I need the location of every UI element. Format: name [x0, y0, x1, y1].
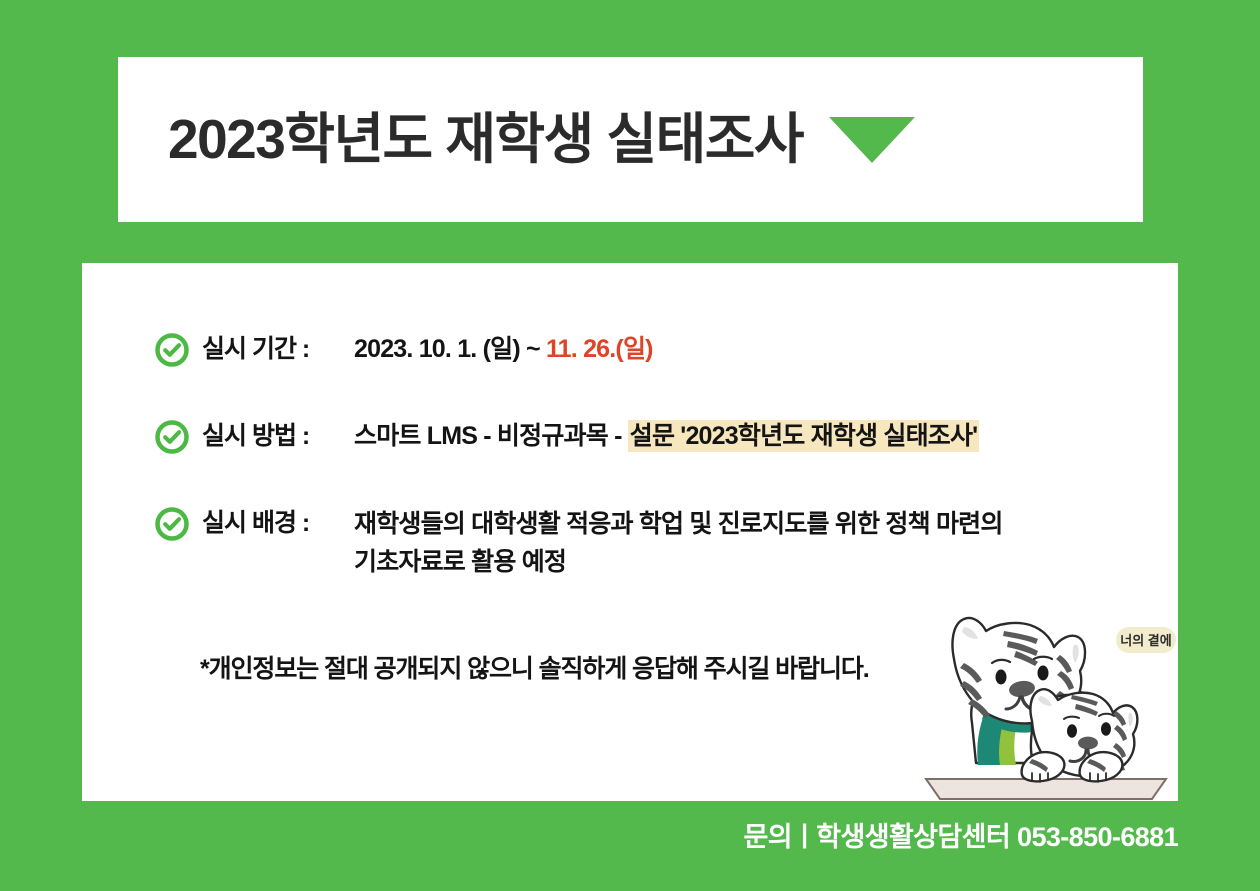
info-value-period: 2023. 10. 1. (일) ~ 11. 26.(일) — [354, 331, 653, 367]
info-list: 실시 기간 : 2023. 10. 1. (일) ~ 11. 26.(일) 실시… — [154, 331, 1158, 581]
triangle-down-icon — [829, 117, 915, 163]
check-circle-icon — [154, 332, 190, 368]
mascot-speech-tag-text: 너의 곁에 — [1120, 633, 1171, 648]
info-label-background: 실시 배경 : — [202, 505, 354, 541]
info-row-period: 실시 기간 : 2023. 10. 1. (일) ~ 11. 26.(일) — [154, 331, 1158, 368]
info-value-background: 재학생들의 대학생활 적응과 학업 및 진로지도를 위한 정책 마련의 기초자료… — [354, 505, 1003, 581]
period-end-text: 11. 26.(일) — [546, 335, 653, 363]
info-row-method: 실시 방법 : 스마트 LMS - 비정규과목 - 설문 '2023학년도 재학… — [154, 418, 1158, 455]
privacy-note: *개인정보는 절대 공개되지 않으니 솔직하게 응답해 주시길 바랍니다. — [200, 649, 869, 685]
check-circle-icon — [154, 506, 190, 542]
info-label-method: 실시 방법 : — [202, 418, 354, 454]
poster-root: 2023학년도 재학생 실태조사 실시 기간 : 2023. 10. 1. (일… — [0, 0, 1260, 891]
background-line-2: 기초자료로 활용 예정 — [354, 543, 1003, 581]
method-survey-name-text: 설문 '2023학년도 재학생 실태조사' — [628, 420, 980, 452]
info-row-background: 실시 배경 : 재학생들의 대학생활 적응과 학업 및 진로지도를 위한 정책 … — [154, 505, 1158, 581]
info-value-method: 스마트 LMS - 비정규과목 - 설문 '2023학년도 재학생 실태조사' — [354, 418, 979, 454]
method-path-text: 스마트 LMS - 비정규과목 - — [354, 422, 628, 450]
page-title: 2023학년도 재학생 실태조사 — [168, 112, 803, 167]
tiger-mascot-illustration: .fur { fill:#ffffff; stroke:#2b2b2b; str… — [920, 603, 1178, 801]
check-circle-icon — [154, 419, 190, 455]
footer-contact: 문의ㅣ학생생활상담센터 053-850-6881 — [744, 815, 1179, 854]
background-line-1: 재학생들의 대학생활 적응과 학업 및 진로지도를 위한 정책 마련의 — [354, 505, 1003, 543]
title-panel: 2023학년도 재학생 실태조사 — [118, 57, 1143, 222]
period-start-text: 2023. 10. 1. (일) ~ — [354, 335, 546, 363]
main-panel: 실시 기간 : 2023. 10. 1. (일) ~ 11. 26.(일) 실시… — [82, 263, 1178, 801]
info-label-period: 실시 기간 : — [202, 331, 354, 367]
